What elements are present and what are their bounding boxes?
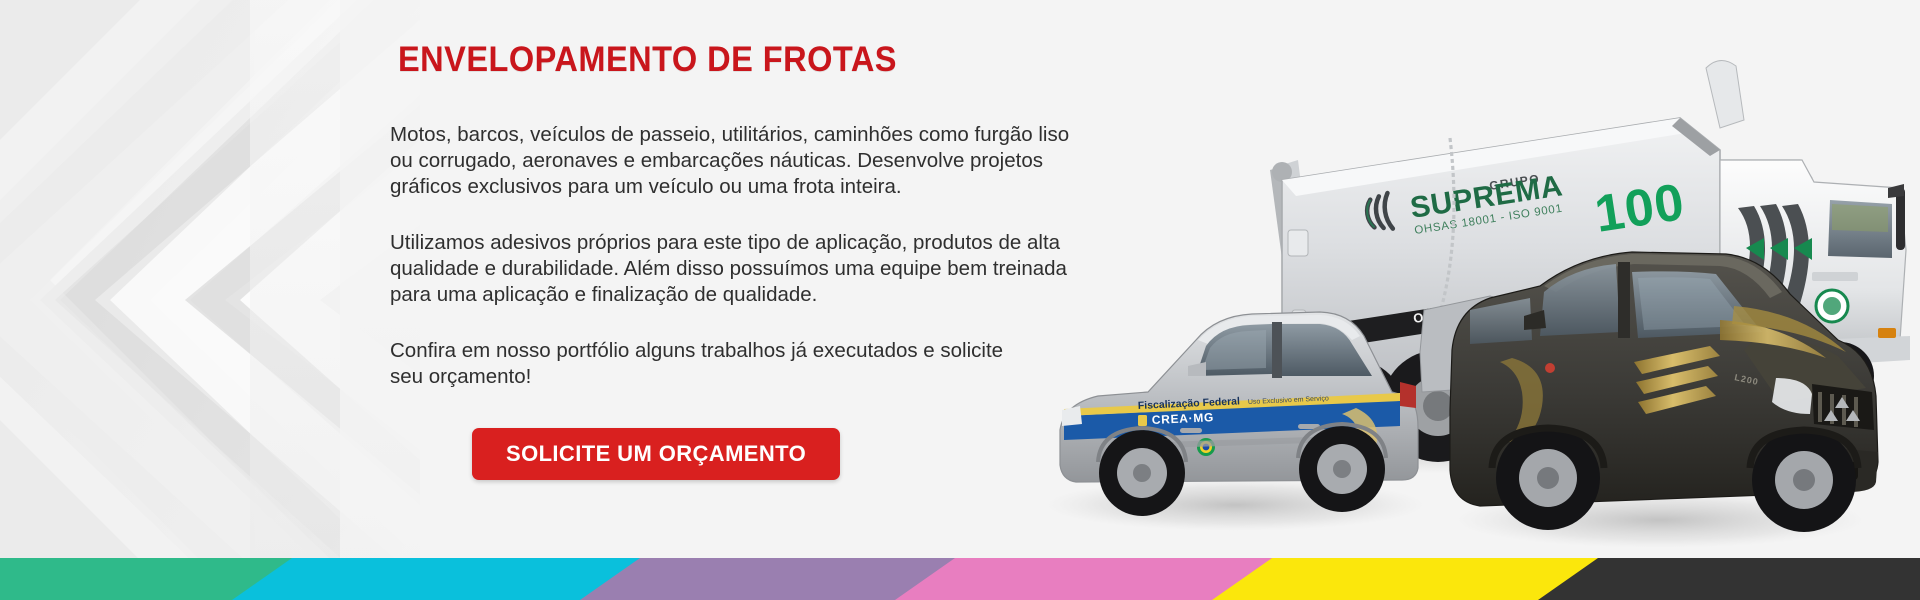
description-paragraph-3: Confira em nosso portfólio alguns trabal…	[390, 338, 1010, 390]
vehicles-photo-composite: OPERAÇÃO CLINQUER GRUPO SUPREMA OHSAS 18…	[1020, 10, 1920, 555]
description-paragraph-1: Motos, barcos, veículos de passeio, util…	[390, 122, 1080, 200]
page-title: ENVELOPAMENTO DE FROTAS	[398, 40, 1032, 80]
description-paragraph-2: Utilizamos adesivos próprios para este t…	[390, 230, 1080, 308]
chevron-pattern-decoration	[0, 0, 420, 560]
color-segment-dark	[1538, 558, 1920, 600]
banner-text-column: ENVELOPAMENTO DE FROTAS Motos, barcos, v…	[390, 40, 1080, 480]
promotional-banner: ENVELOPAMENTO DE FROTAS Motos, barcos, v…	[0, 0, 1920, 600]
bottom-color-bar	[0, 558, 1920, 600]
chevron-arrows-icon	[0, 0, 420, 560]
hatchback-agency-line-2: CREA·MG	[1152, 410, 1215, 427]
request-quote-button[interactable]: SOLICITE UM ORÇAMENTO	[472, 428, 840, 480]
